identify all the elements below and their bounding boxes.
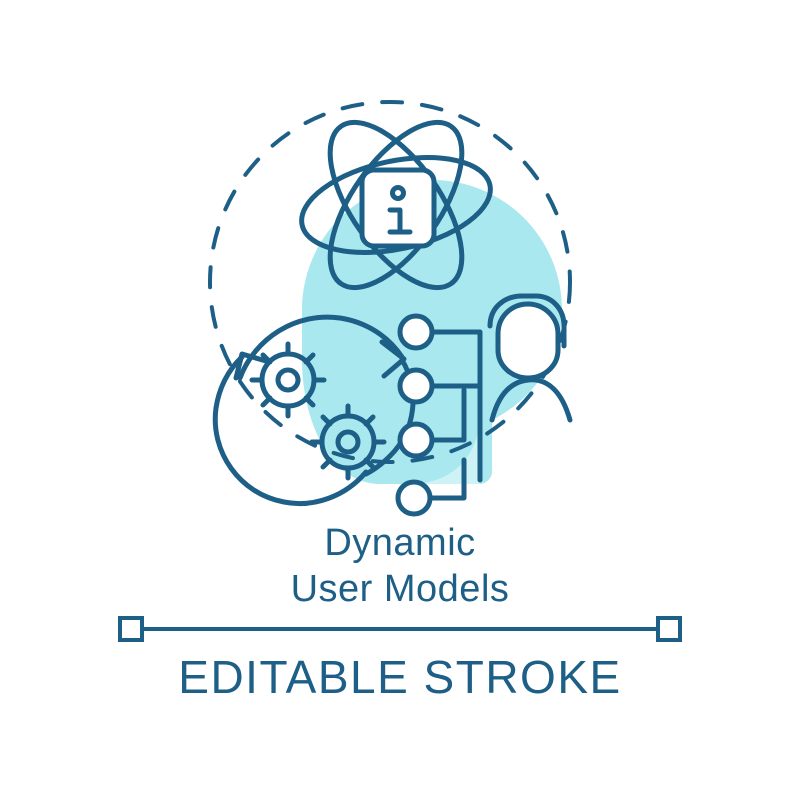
caption-editable-stroke: EDITABLE STROKE [0,650,800,704]
editable-stroke-rule [0,612,800,646]
illustration-canvas: Dynamic User Models EDITABLE STROKE [0,0,800,800]
square-handle-left[interactable] [120,618,142,640]
info-square-icon [362,170,434,246]
dynamic-user-models-concept-icon [180,60,620,530]
square-handle-right[interactable] [658,618,680,640]
title-line-1: Dynamic [0,520,800,566]
title-line-2: User Models [0,566,800,612]
page-title: Dynamic User Models [0,520,800,613]
